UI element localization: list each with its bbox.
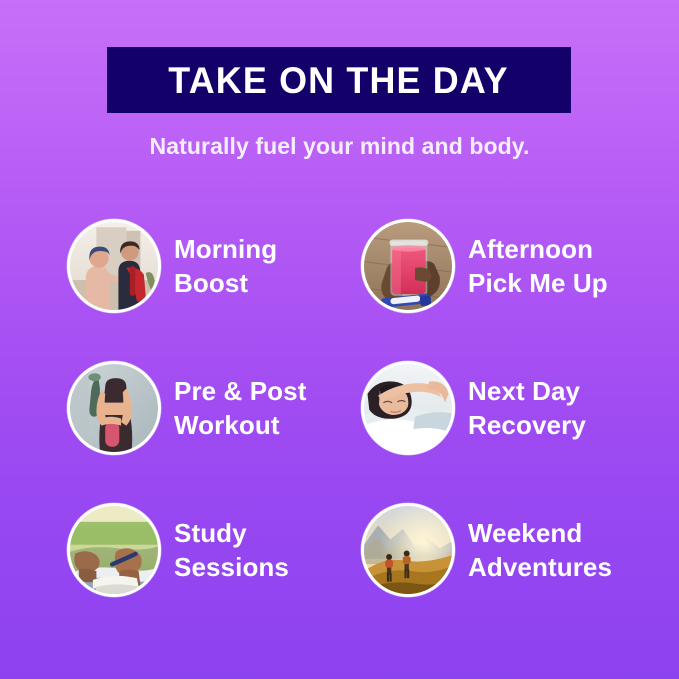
title-banner: TAKE ON THE DAY: [107, 47, 571, 113]
benefits-row-1: Morning Boost: [0, 218, 679, 360]
benefit-image-circle: [361, 503, 455, 597]
benefits-row-2: Pre & Post Workout: [0, 360, 679, 502]
benefit-label: Afternoon Pick Me Up: [468, 232, 608, 300]
benefit-label: Pre & Post Workout: [174, 374, 307, 442]
benefit-item-afternoon-pick-me-up: Afternoon Pick Me Up: [361, 218, 608, 313]
benefit-image-circle: [67, 219, 161, 313]
hikers-on-sunlit-ridge-photo: [364, 506, 452, 594]
woman-resting-in-bed-photo: [364, 364, 452, 452]
page-subtitle: Naturally fuel your mind and body.: [0, 133, 679, 160]
benefit-item-weekend-adventures: Weekend Adventures: [361, 502, 612, 597]
benefit-item-next-day-recovery: Next Day Recovery: [361, 360, 586, 455]
benefit-label: Weekend Adventures: [468, 516, 612, 584]
benefit-image-circle: [361, 219, 455, 313]
mother-and-child-with-backpack-photo: [70, 222, 158, 310]
benefits-row-3: Study Sessions: [0, 502, 679, 644]
hand-holding-pink-drink-jar-photo: [364, 222, 452, 310]
benefit-image-circle: [361, 361, 455, 455]
benefit-item-morning-boost: Morning Boost: [67, 218, 277, 313]
benefit-image-circle: [67, 361, 161, 455]
benefit-item-pre-and-post-workout: Pre & Post Workout: [67, 360, 307, 455]
hands-writing-notes-photo: [70, 506, 158, 594]
benefit-image-circle: [67, 503, 161, 597]
benefit-label: Next Day Recovery: [468, 374, 586, 442]
page-title: TAKE ON THE DAY: [169, 62, 510, 99]
benefit-label: Study Sessions: [174, 516, 289, 584]
take-on-the-day-infographic: TAKE ON THE DAY Naturally fuel your mind…: [0, 0, 679, 679]
benefit-label: Morning Boost: [174, 232, 277, 300]
benefit-item-study-sessions: Study Sessions: [67, 502, 289, 597]
woman-with-yoga-mat-and-bottle-photo: [70, 364, 158, 452]
benefits-grid: Morning Boost: [0, 218, 679, 644]
